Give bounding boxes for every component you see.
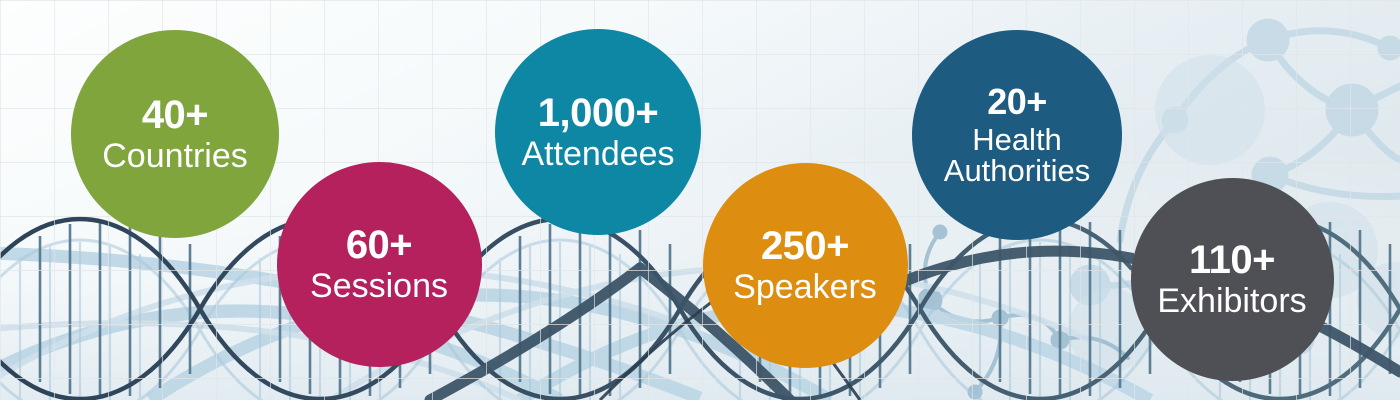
stat-value: 1,000+ (538, 93, 658, 133)
stat-label: Speakers (733, 270, 877, 304)
stat-value: 20+ (987, 84, 1047, 120)
stats-banner: 40+ Countries 60+ Sessions 1,000+ Attend… (0, 0, 1400, 400)
stat-circle-sessions[interactable]: 60+ Sessions (277, 162, 482, 367)
stat-value: 250+ (761, 226, 849, 266)
stat-value: 60+ (346, 225, 412, 265)
stat-label: Countries (102, 139, 248, 173)
stat-circle-countries[interactable]: 40+ Countries (71, 30, 279, 238)
stat-label: Attendees (521, 137, 674, 171)
stat-value: 110+ (1189, 240, 1275, 280)
stat-circle-speakers[interactable]: 250+ Speakers (703, 163, 908, 368)
stat-circle-health-authorities[interactable]: 20+ Health Authorities (912, 30, 1122, 240)
stat-value: 40+ (142, 95, 208, 135)
stat-label: Sessions (310, 269, 448, 303)
stat-label: Exhibitors (1157, 284, 1306, 318)
stat-label: Health Authorities (912, 124, 1122, 186)
stat-circle-attendees[interactable]: 1,000+ Attendees (495, 29, 701, 235)
stat-circle-exhibitors[interactable]: 110+ Exhibitors (1131, 178, 1334, 381)
